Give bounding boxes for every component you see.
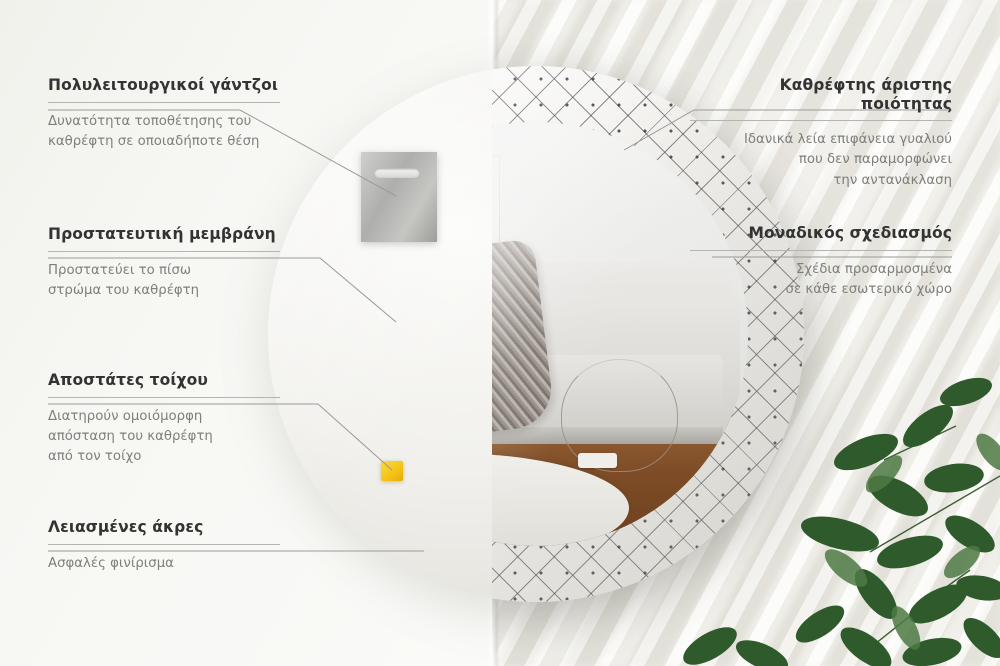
- callout-multifunctional-hooks: Πολυλειτουργικοί γάντζοι Δυνατότητα τοπο…: [48, 76, 280, 152]
- callout-unique-design: Μοναδικός σχεδιασμός Σχέδια προσαρμοσμέν…: [690, 224, 952, 300]
- callout-rule: [48, 251, 280, 252]
- callout-rule: [690, 120, 952, 121]
- product-infographic: Πολυλειτουργικοί γάντζοι Δυνατότητα τοπο…: [0, 0, 1000, 666]
- callout-body: Ασφαλές φινίρισμα: [48, 554, 280, 574]
- callout-body: Δυνατότητα τοποθέτησης του καθρέφτη σε ο…: [48, 112, 280, 152]
- callout-protective-membrane: Προστατευτική μεμβράνη Προστατεύει το πί…: [48, 225, 280, 301]
- callout-rule: [48, 102, 280, 103]
- callout-body: Προστατεύει το πίσω στρώμα του καθρέφτη: [48, 261, 280, 301]
- callout-title: Καθρέφτης άριστης ποιότητας: [690, 76, 952, 113]
- callout-top-quality-mirror: Καθρέφτης άριστης ποιότητας Ιδανικά λεία…: [690, 76, 952, 191]
- callout-wall-spacers: Αποστάτες τοίχου Διατηρούν ομοιόμορφη απ…: [48, 371, 280, 467]
- callout-title: Αποστάτες τοίχου: [48, 371, 280, 390]
- callout-smoothed-edges: Λειασμένες άκρες Ασφαλές φινίρισμα: [48, 518, 280, 574]
- callout-title: Λειασμένες άκρες: [48, 518, 280, 537]
- wall-hook-plate-icon: [361, 152, 437, 242]
- callout-rule: [690, 250, 952, 251]
- wall-spacer-icon: [381, 461, 403, 481]
- callout-body: Διατηρούν ομοιόμορφη απόσταση του καθρέφ…: [48, 407, 280, 468]
- callout-title: Πολυλειτουργικοί γάντζοι: [48, 76, 280, 95]
- hook-keyhole-slot: [374, 168, 420, 178]
- callout-rule: [48, 544, 280, 545]
- callout-body: Ιδανικά λεία επιφάνεια γυαλιού που δεν π…: [690, 130, 952, 191]
- callout-body: Σχέδια προσαρμοσμένα σε κάθε εσωτερικό χ…: [690, 260, 952, 300]
- callout-rule: [48, 397, 280, 398]
- callout-title: Μοναδικός σχεδιασμός: [690, 224, 952, 243]
- callout-title: Προστατευτική μεμβράνη: [48, 225, 280, 244]
